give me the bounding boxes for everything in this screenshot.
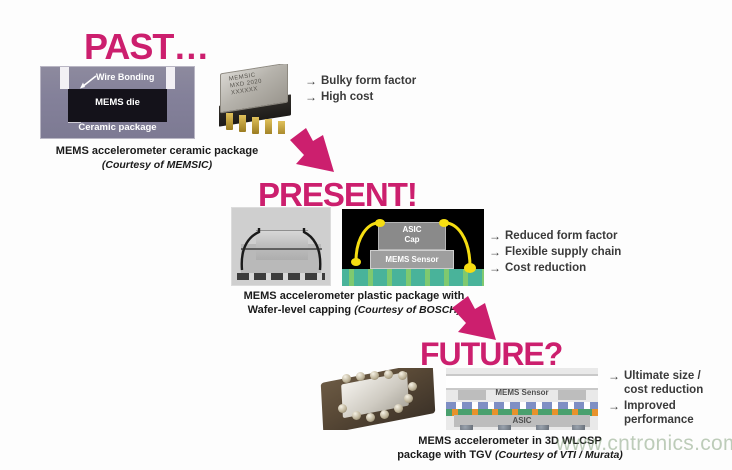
package-cavity: MEMS die bbox=[68, 89, 167, 122]
bullet-text: Cost reduction bbox=[505, 261, 586, 275]
arrow-marker-icon: → bbox=[489, 229, 501, 243]
bullet-text: Bulky form factor bbox=[321, 74, 416, 88]
bullets-present: → Reduced form factor → Flexible supply … bbox=[489, 229, 621, 277]
solder-ball bbox=[380, 410, 389, 419]
package-notch-right bbox=[166, 67, 175, 89]
arrow-marker-icon: → bbox=[608, 399, 620, 413]
bullet-item: → Ultimate size / cost reduction bbox=[608, 369, 703, 397]
wire-bonding-arrow-icon bbox=[79, 75, 97, 89]
mems-die-label: MEMS die bbox=[68, 97, 167, 108]
caption-courtesy: (Courtesy of MEMSIC) bbox=[102, 159, 212, 171]
solder-ball bbox=[404, 394, 413, 403]
package-pin bbox=[239, 115, 246, 132]
bullet-text: Reduced form factor bbox=[505, 229, 617, 243]
arrow-marker-icon: → bbox=[489, 261, 501, 275]
sem-cross-section-image bbox=[231, 207, 331, 286]
wlcsp-package-photo bbox=[320, 368, 438, 430]
solder-ball bbox=[366, 413, 375, 422]
solder-ball bbox=[356, 372, 365, 381]
bga-ball bbox=[498, 425, 511, 430]
solder-ball bbox=[384, 370, 393, 379]
tgv-stack-schematic: MEMS Sensor ASIC bbox=[446, 368, 598, 430]
solder-ball bbox=[338, 404, 347, 413]
bullet-item: → Flexible supply chain bbox=[489, 245, 621, 259]
solder-ball bbox=[408, 382, 417, 391]
lead-frame bbox=[237, 273, 325, 280]
package-pin bbox=[265, 119, 272, 134]
metal-lid-package-photo: MEMSIC MXD 2020 XXXXXX bbox=[214, 64, 298, 134]
wire-bonding-label: Wire Bonding bbox=[96, 72, 154, 82]
ceramic-package-cross-section-image: MEMS die Wire Bonding Ceramic package bbox=[40, 66, 195, 139]
solder-ball bbox=[342, 374, 351, 383]
package-pin bbox=[278, 121, 285, 134]
mems-sensor-label: MEMS Sensor bbox=[446, 388, 598, 397]
solder-ball bbox=[370, 371, 379, 380]
bullet-item: → Bulky form factor bbox=[305, 74, 416, 88]
site-watermark: www.cntronics.com bbox=[556, 432, 732, 456]
bullets-future: → Ultimate size / cost reduction → Impro… bbox=[608, 369, 703, 429]
bullet-item: → High cost bbox=[305, 90, 416, 104]
solder-ball bbox=[394, 404, 403, 413]
solder-ball bbox=[352, 411, 361, 420]
arrow-marker-icon: → bbox=[305, 90, 317, 104]
bga-ball bbox=[572, 425, 585, 430]
caption-text: MEMS accelerometer ceramic package bbox=[56, 145, 258, 157]
asic-label: ASIC bbox=[446, 416, 598, 425]
package-pin bbox=[252, 117, 259, 134]
bga-ball bbox=[460, 425, 473, 430]
heading-past: PAST… bbox=[84, 26, 208, 68]
bullets-past: → Bulky form factor → High cost bbox=[305, 74, 416, 106]
bga-ball bbox=[536, 425, 549, 430]
bullet-item: → Reduced form factor bbox=[489, 229, 621, 243]
gold-bond-wires-icon bbox=[342, 209, 484, 286]
caption-past: MEMS accelerometer ceramic package (Cour… bbox=[22, 144, 292, 172]
arrow-marker-icon: → bbox=[489, 245, 501, 259]
ceramic-package-label: Ceramic package bbox=[41, 122, 194, 133]
caption-courtesy: (Courtesy of BOSCH) bbox=[354, 304, 460, 316]
bullet-text: High cost bbox=[321, 90, 373, 104]
slide-canvas: PAST… MEMS die Wire Bonding Ceramic pack… bbox=[0, 0, 732, 470]
arrow-past-to-present-icon bbox=[286, 128, 342, 180]
package-notch-left bbox=[60, 67, 69, 89]
bullet-text: Ultimate size / cost reduction bbox=[624, 369, 703, 397]
arrow-marker-icon: → bbox=[305, 74, 317, 88]
bullet-text: Improved performance bbox=[624, 399, 694, 427]
bullet-text: Flexible supply chain bbox=[505, 245, 621, 259]
package-pin bbox=[226, 113, 233, 130]
wafer-level-cap-schematic: MEMS Sensor ASIC Cap bbox=[342, 209, 484, 286]
bullet-item: → Cost reduction bbox=[489, 261, 621, 275]
bullet-item: → Improved performance bbox=[608, 399, 703, 427]
solder-ball bbox=[398, 371, 407, 380]
arrow-marker-icon: → bbox=[608, 369, 620, 383]
